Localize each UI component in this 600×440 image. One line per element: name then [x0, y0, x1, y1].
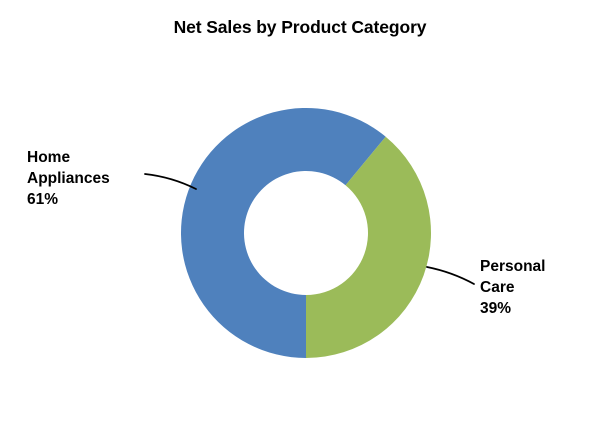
- data-label-personal-care-line2: Care: [480, 277, 545, 298]
- leader-line-personal-care: [427, 267, 474, 284]
- plot-area: [0, 0, 600, 440]
- chart-container: Net Sales by Product Category Home Appli…: [0, 0, 600, 440]
- data-label-home-appliances-line2: Appliances: [27, 168, 110, 189]
- data-label-home-appliances-line1: Home: [27, 147, 110, 168]
- data-label-personal-care: Personal Care 39%: [480, 256, 545, 319]
- leader-line-home-appliances: [145, 174, 196, 189]
- data-label-home-appliances: Home Appliances 61%: [27, 147, 110, 210]
- data-label-personal-care-line1: Personal: [480, 256, 545, 277]
- data-label-personal-care-value: 39%: [480, 298, 545, 319]
- donut-chart-svg: [0, 0, 600, 440]
- data-label-home-appliances-value: 61%: [27, 189, 110, 210]
